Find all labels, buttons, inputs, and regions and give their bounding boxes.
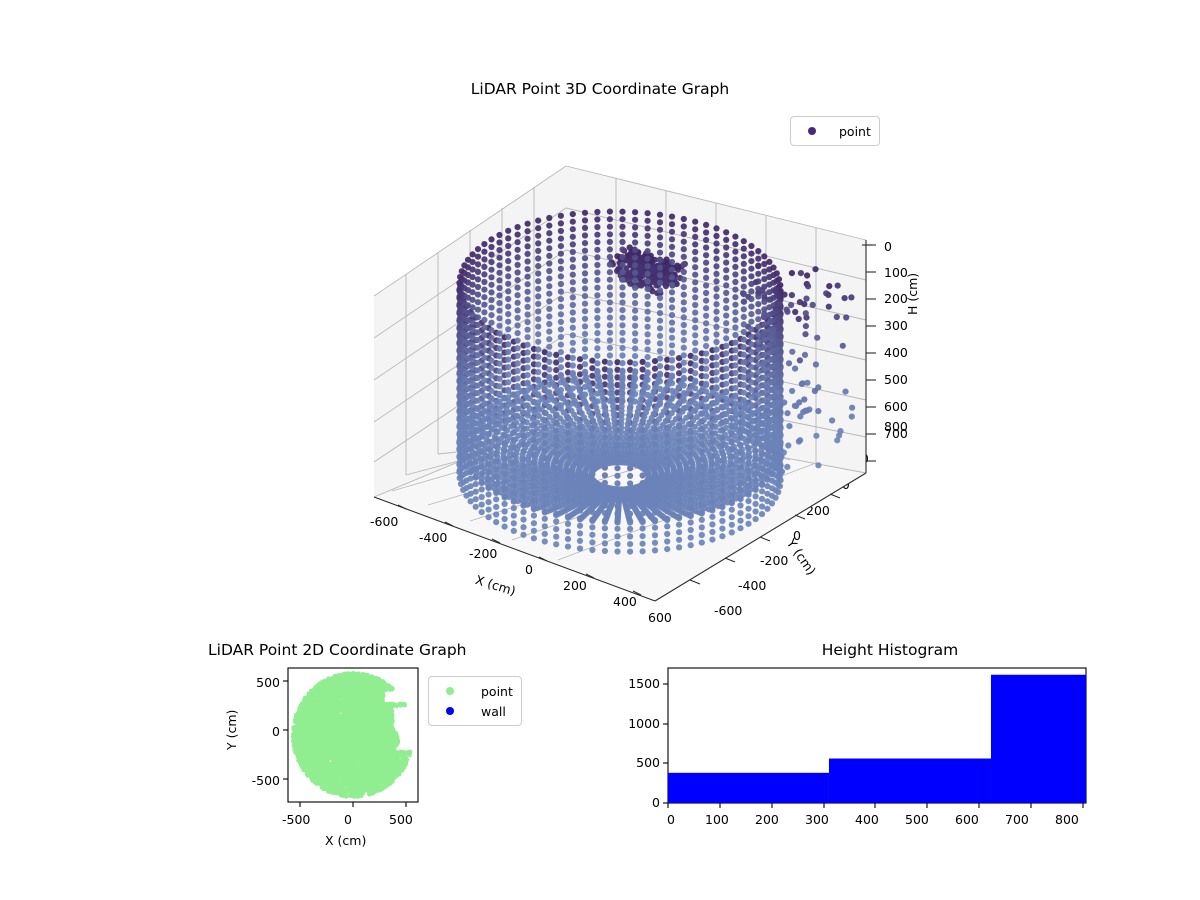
y-tick-600: 600 bbox=[845, 451, 869, 466]
hist-x-tick-0: 0 bbox=[667, 812, 675, 827]
legend-marker-point-2d-icon bbox=[437, 687, 463, 695]
axes-2d-ticks bbox=[283, 681, 406, 807]
y-tick--600: -600 bbox=[714, 603, 742, 618]
legend-3d: point bbox=[790, 116, 880, 146]
panel-hist-title: Height Histogram bbox=[680, 641, 1100, 659]
legend-item-point-3d: point bbox=[799, 121, 871, 141]
y-tick-400: 400 bbox=[826, 477, 850, 492]
legend-label-wall-2d: wall bbox=[481, 704, 506, 719]
panel-3d-title: LiDAR Point 3D Coordinate Graph bbox=[0, 80, 1200, 98]
legend-label-point-2d: point bbox=[481, 684, 513, 699]
x-tick--600: -600 bbox=[370, 514, 398, 529]
scatter-3d-points bbox=[456, 209, 855, 555]
x-tick-0: 0 bbox=[525, 562, 533, 577]
x-tick--200: -200 bbox=[469, 546, 497, 561]
hist-x-tick-300: 300 bbox=[805, 812, 829, 827]
figure-canvas: LiDAR Point 3D Coordinate Graph point 0 … bbox=[0, 0, 1200, 900]
z-tick-500: 500 bbox=[884, 372, 908, 387]
scatter-2d-points bbox=[291, 671, 412, 799]
legend-label-point-3d: point bbox=[839, 124, 871, 139]
z-axis-label: H (cm) bbox=[905, 273, 920, 315]
z-tick-0: 0 bbox=[884, 239, 892, 254]
y-tick--400: -400 bbox=[738, 578, 766, 593]
panel-2d-x-tick--500: -500 bbox=[282, 812, 310, 827]
hist-x-tick-200: 200 bbox=[755, 812, 779, 827]
z-tick-600: 600 bbox=[884, 399, 908, 414]
hist-y-tick-500: 500 bbox=[614, 755, 660, 770]
y-axis-label: Y (cm) bbox=[784, 536, 819, 578]
hist-x-tick-600: 600 bbox=[955, 812, 979, 827]
hist-x-tick-800: 800 bbox=[1055, 812, 1079, 827]
y-tick-200: 200 bbox=[806, 503, 830, 518]
y-tick--200: -200 bbox=[760, 553, 788, 568]
hist-y-tick-0: 0 bbox=[614, 795, 660, 810]
legend-item-wall-2d: wall bbox=[437, 701, 513, 721]
histogram-bar bbox=[829, 759, 991, 803]
hist-x-tick-500: 500 bbox=[905, 812, 929, 827]
plot-drawing-layer bbox=[0, 0, 1200, 900]
x-tick-400: 400 bbox=[613, 594, 637, 609]
z-tick-800-dup: 800 bbox=[884, 419, 908, 434]
axes-2d-frame bbox=[288, 668, 418, 802]
hist-x-tick-100: 100 bbox=[705, 812, 729, 827]
legend-item-point-2d: point bbox=[437, 681, 513, 701]
legend-swatch-height-icon bbox=[683, 684, 713, 697]
axes-3d-grid bbox=[374, 166, 866, 560]
histogram-bar bbox=[991, 675, 1086, 803]
histogram-bar bbox=[668, 773, 829, 803]
panel-2d-title: LiDAR Point 2D Coordinate Graph bbox=[208, 641, 466, 659]
panel-2d-y-axis-label: Y (cm) bbox=[224, 710, 239, 750]
legend-item-height: Height bbox=[683, 680, 768, 700]
hist-x-tick-400: 400 bbox=[855, 812, 879, 827]
z-tick-300: 300 bbox=[884, 318, 908, 333]
x-tick-600: 600 bbox=[648, 610, 672, 625]
hist-y-tick-1000: 1000 bbox=[614, 716, 660, 731]
legend-marker-point-icon bbox=[799, 127, 825, 135]
panel-2d-x-axis-label: X (cm) bbox=[325, 833, 366, 848]
legend-hist: Height bbox=[676, 676, 775, 704]
axes-3d-ticks bbox=[398, 245, 876, 595]
panel-2d-x-tick-0: 0 bbox=[344, 812, 352, 827]
x-tick-200: 200 bbox=[563, 578, 587, 593]
panel-2d-y-tick-500: 500 bbox=[228, 675, 280, 690]
x-axis-label: X (cm) bbox=[474, 572, 518, 598]
legend-marker-wall-icon bbox=[437, 707, 463, 715]
legend-label-height: Height bbox=[727, 683, 768, 698]
panel-2d-x-tick-500: 500 bbox=[389, 812, 413, 827]
x-tick--400: -400 bbox=[419, 530, 447, 545]
legend-2d: point wall bbox=[428, 676, 522, 726]
panel-2d-y-tick--500: -500 bbox=[228, 773, 280, 788]
hist-x-tick-700: 700 bbox=[1005, 812, 1029, 827]
hist-y-tick-1500: 1500 bbox=[614, 676, 660, 691]
z-tick-400: 400 bbox=[884, 345, 908, 360]
